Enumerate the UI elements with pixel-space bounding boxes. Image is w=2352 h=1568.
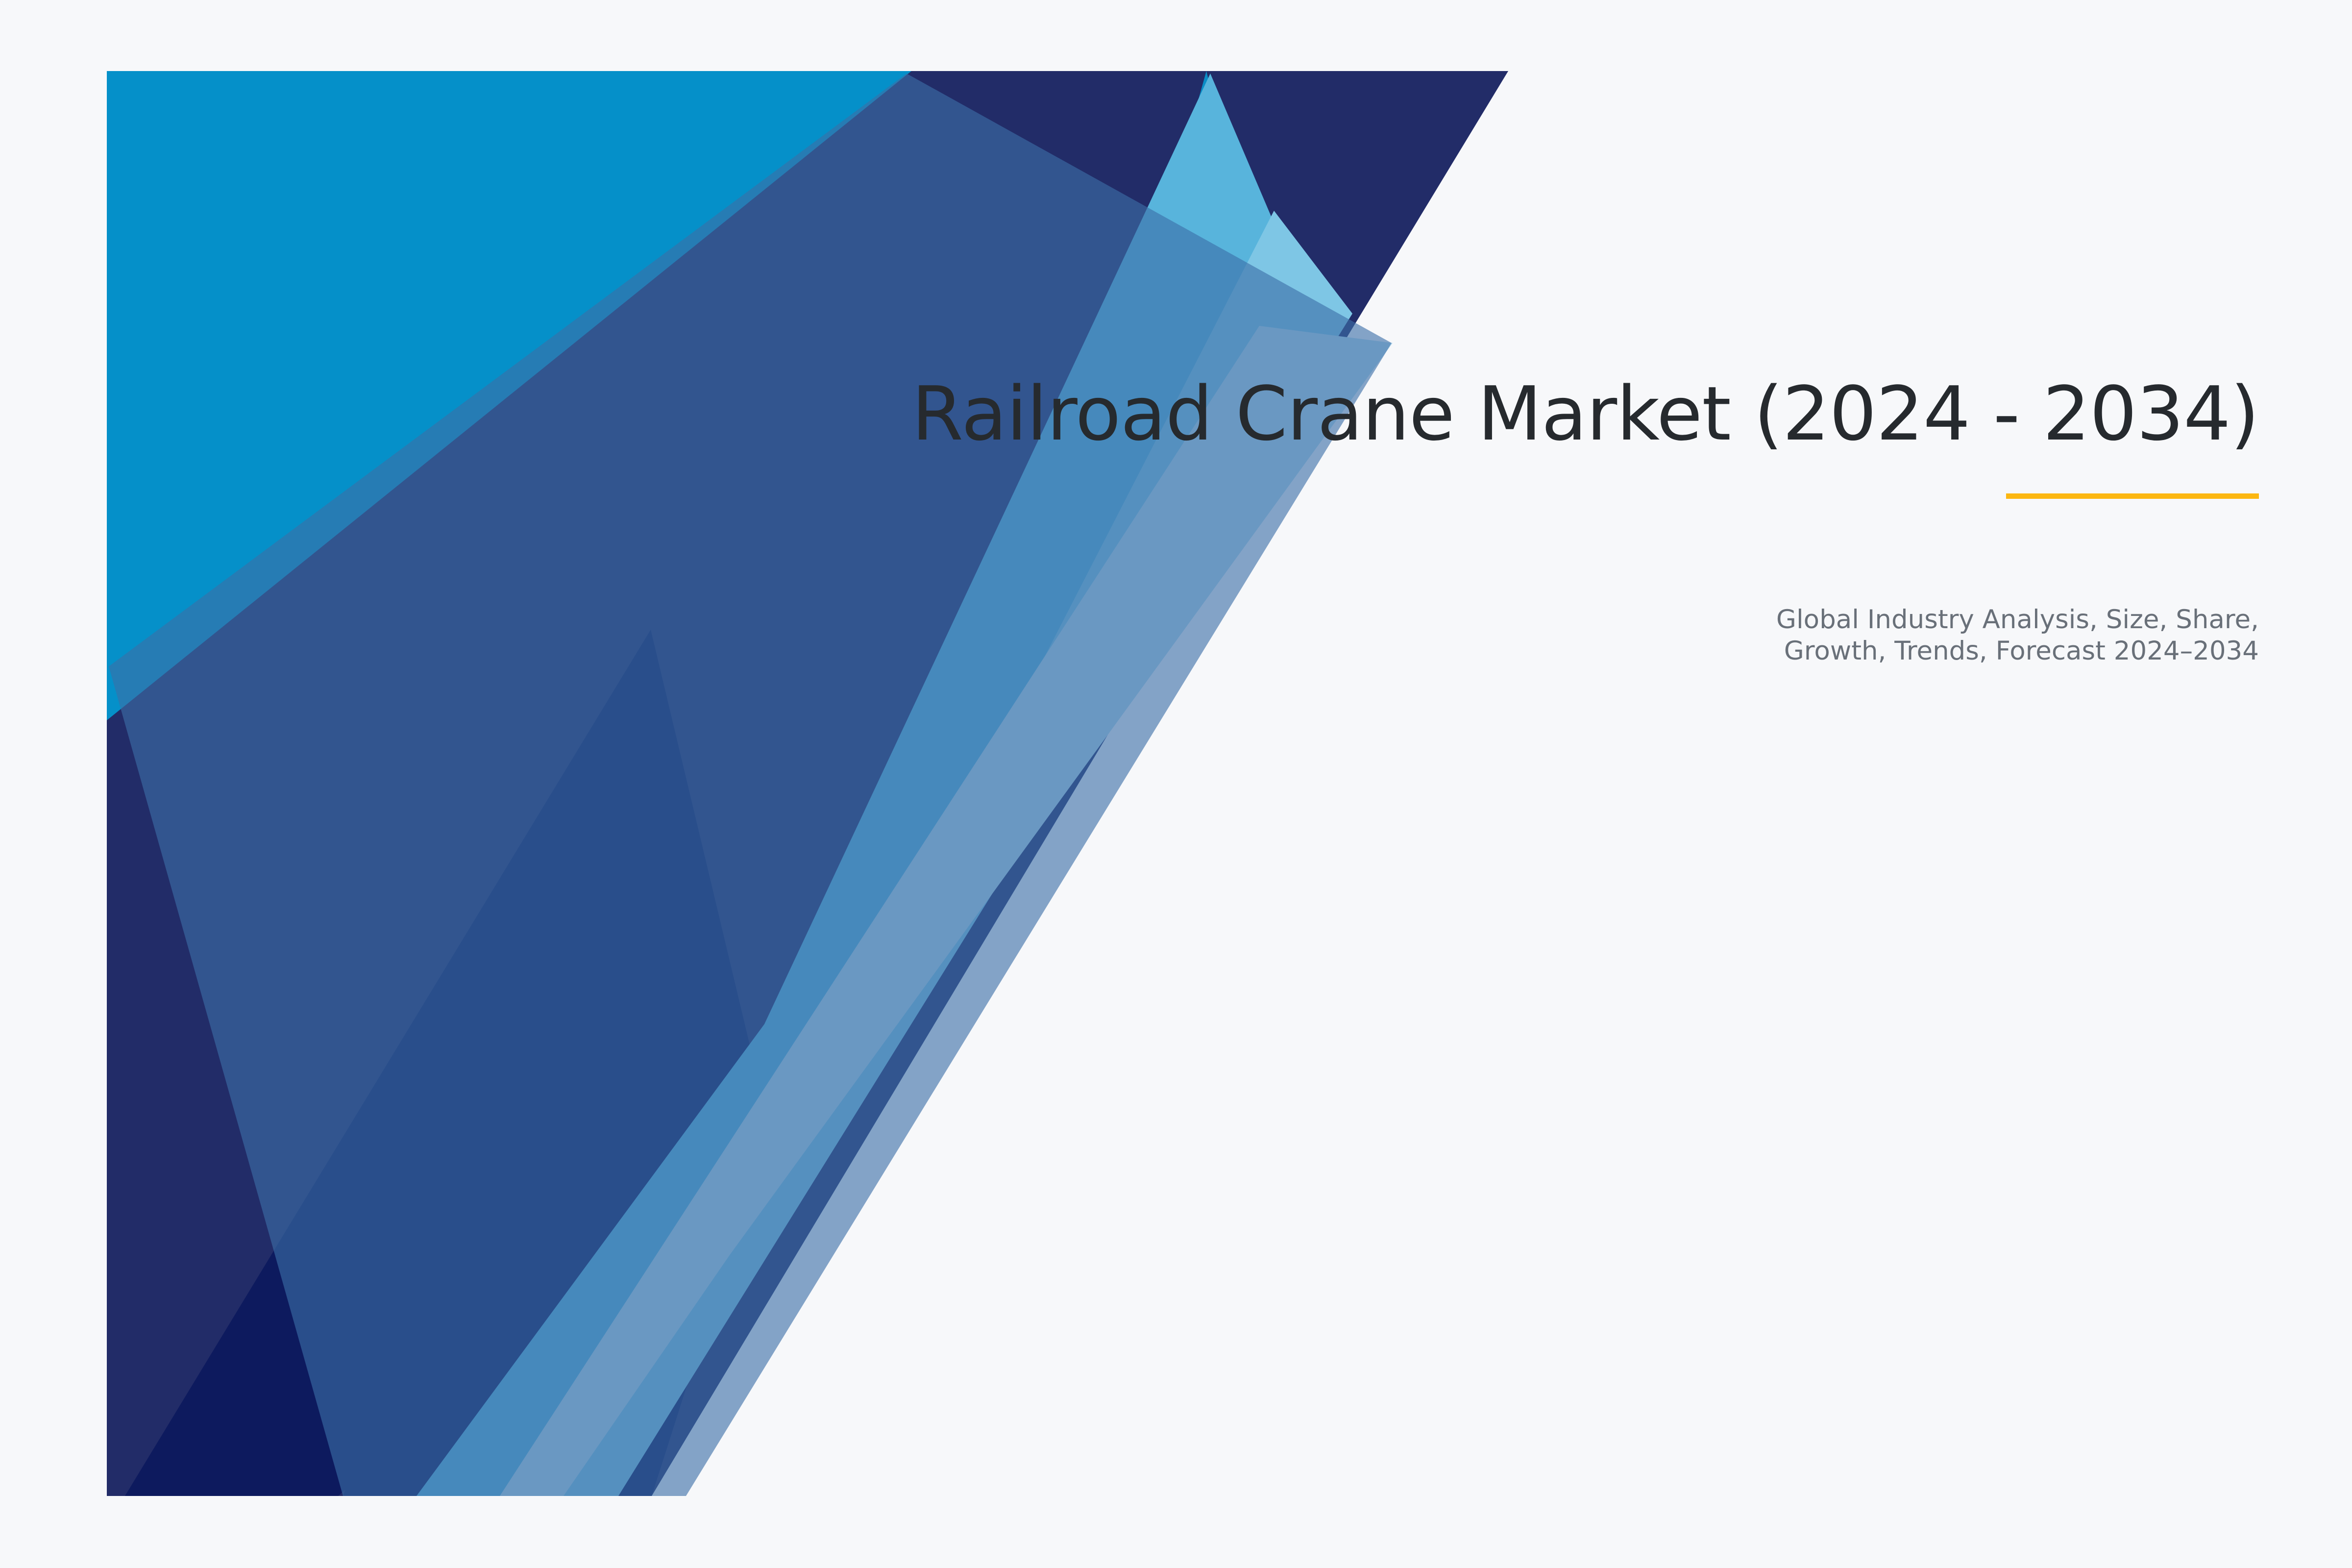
accent-rule-container — [735, 491, 2259, 500]
page-title: Railroad Crane Market (2024 - 2034) — [735, 372, 2259, 456]
abstract-geometric-cover-graphic — [0, 0, 2352, 1568]
slide-canvas: Railroad Crane Market (2024 - 2034) Glob… — [0, 0, 2352, 1568]
page-subtitle: Global Industry Analysis, Size, Share, G… — [735, 604, 2259, 666]
title-block: Railroad Crane Market (2024 - 2034) Glob… — [735, 372, 2259, 666]
accent-rule — [2006, 493, 2259, 499]
